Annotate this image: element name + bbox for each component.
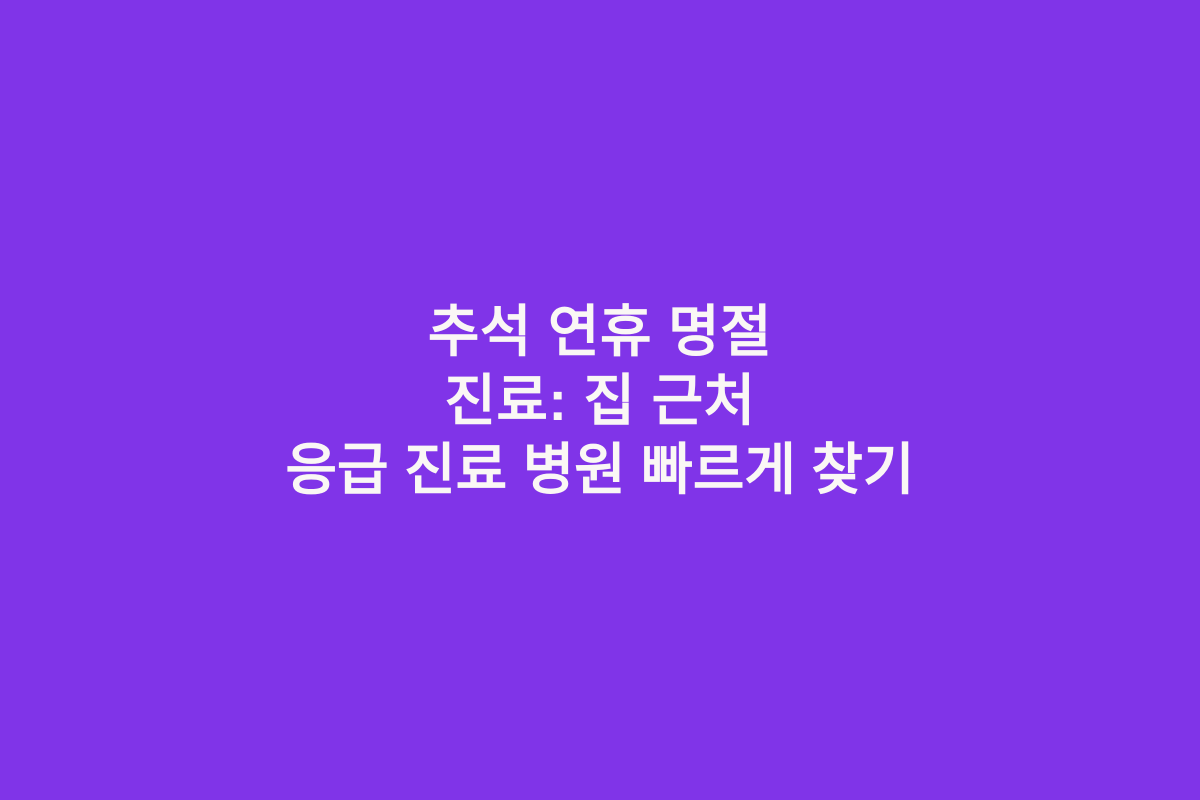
- page-title: 추석 연휴 명절 진료: 집 근처 응급 진료 병원 빠르게 찾기: [20, 297, 1180, 504]
- headline-line-1: 추석 연휴 명절: [20, 297, 1180, 366]
- title-card: 추석 연휴 명절 진료: 집 근처 응급 진료 병원 빠르게 찾기: [0, 0, 1200, 800]
- headline-line-3: 응급 진료 병원 빠르게 찾기: [20, 435, 1180, 504]
- headline-line-2: 진료: 집 근처: [20, 366, 1180, 435]
